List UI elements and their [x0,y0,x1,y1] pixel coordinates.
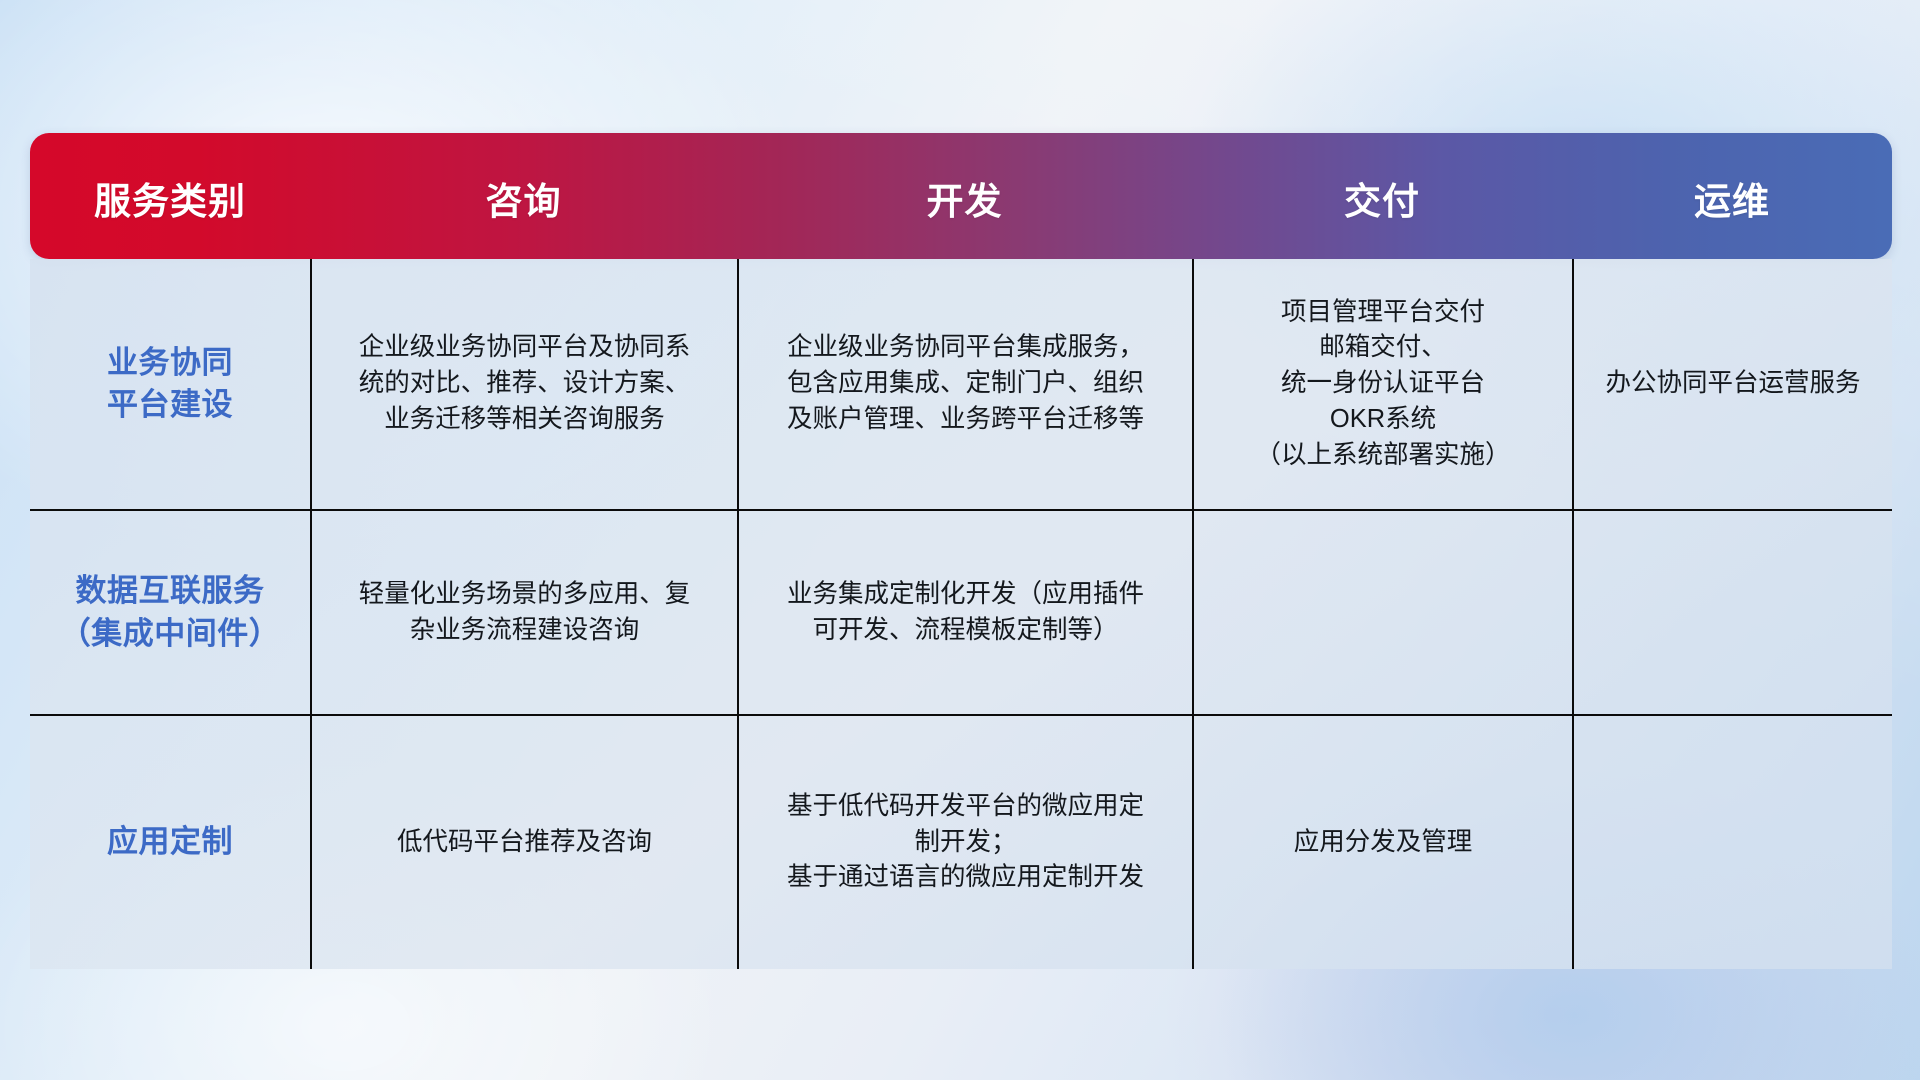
table-row: 数据互联服务 （集成中间件） 轻量化业务场景的多应用、复 杂业务流程建设咨询 业… [30,509,1892,714]
cell-delivery [1192,511,1572,714]
row-category-label: 业务协同 平台建设 [30,259,310,509]
cell-operations [1572,716,1892,969]
table-header-development: 开发 [737,133,1192,259]
cell-consulting: 企业级业务协同平台及协同系 统的对比、推荐、设计方案、 业务迁移等相关咨询服务 [310,259,737,509]
cell-consulting: 轻量化业务场景的多应用、复 杂业务流程建设咨询 [310,511,737,714]
cell-development: 企业级业务协同平台集成服务， 包含应用集成、定制门户、组织 及账户管理、业务跨平… [737,259,1192,509]
service-matrix-table: 服务类别 咨询 开发 交付 运维 业务协同 平台建设 企业级业务协同平台及协同系… [30,133,1892,969]
cell-operations [1572,511,1892,714]
table-row: 业务协同 平台建设 企业级业务协同平台及协同系 统的对比、推荐、设计方案、 业务… [30,259,1892,509]
cell-development: 业务集成定制化开发（应用插件 可开发、流程模板定制等） [737,511,1192,714]
table-header-operations: 运维 [1572,133,1892,259]
cell-development: 基于低代码开发平台的微应用定 制开发； 基于通过语言的微应用定制开发 [737,716,1192,969]
table-header-consulting: 咨询 [310,133,737,259]
cell-delivery: 项目管理平台交付 邮箱交付、 统一身份认证平台 OKR系统 （以上系统部署实施） [1192,259,1572,509]
table-row: 应用定制 低代码平台推荐及咨询 基于低代码开发平台的微应用定 制开发； 基于通过… [30,714,1892,969]
row-category-label: 数据互联服务 （集成中间件） [30,511,310,714]
row-category-label: 应用定制 [30,716,310,969]
table-body: 业务协同 平台建设 企业级业务协同平台及协同系 统的对比、推荐、设计方案、 业务… [30,259,1892,969]
cell-operations: 办公协同平台运营服务 [1572,259,1892,509]
cell-delivery: 应用分发及管理 [1192,716,1572,969]
cell-consulting: 低代码平台推荐及咨询 [310,716,737,969]
table-header-category: 服务类别 [30,133,310,259]
table-header-delivery: 交付 [1192,133,1572,259]
table-header-row: 服务类别 咨询 开发 交付 运维 [30,133,1892,259]
